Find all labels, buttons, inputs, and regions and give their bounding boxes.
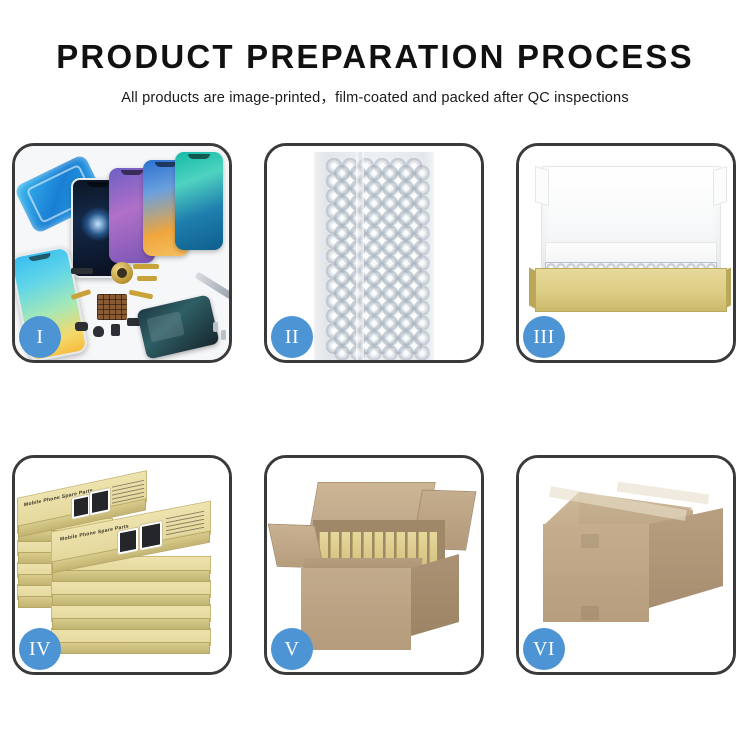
step-panel-3: III [516,143,736,363]
carton-front-face [301,568,411,650]
step-panel-6: VI [516,455,736,675]
flex-cable-icon [137,276,157,281]
connector-chip-icon [75,322,88,331]
step-panel-2: II [264,143,484,363]
carton-right-face [411,554,459,636]
box-screen-thumb [90,488,110,515]
phone-teal-icon [175,152,223,250]
step-badge-6: VI [523,628,565,670]
box-screen-thumb [118,528,138,555]
retail-box [51,580,211,598]
flex-cable-icon [129,290,154,300]
carton-right-face [649,508,723,608]
step-badge-5: V [271,628,313,670]
copper-coil-icon [111,262,133,284]
screw-grid-tray-icon [97,294,127,320]
screw-icon [213,322,218,332]
lid-tab-left [535,166,549,206]
step-panel-1: I [12,143,232,363]
retail-box [51,604,211,622]
flex-cable-icon [133,264,159,269]
page-title: PRODUCT PREPARATION PROCESS [0,38,750,76]
carton-flap-seam [581,606,599,620]
phone-back-housing-icon [136,294,219,359]
bubble-wrap-bag-icon [314,152,434,360]
connector-chip-icon [111,324,120,336]
step-panel-5: V [264,455,484,675]
lid-tab-right [713,166,727,206]
bag-seam [356,152,364,360]
carton-flap-seam [581,534,599,548]
step-badge-3: III [523,316,565,358]
screw-icon [221,330,226,340]
bubble-pattern-back [334,165,430,360]
step-panel-4: Mobile Phone Spare Parts Mobile Phone Sp… [12,455,232,675]
page-subtitle: All products are image-printed，film-coat… [0,86,750,107]
connector-chip-icon [93,326,104,337]
step-badge-1: I [19,316,61,358]
box-screen-thumb [72,494,90,519]
step-badge-4: IV [19,628,61,670]
connector-chip-icon [71,268,93,274]
step-badge-2: II [271,316,313,358]
box-screen-thumb [140,521,162,550]
kraft-tray-icon [535,268,727,312]
retail-box [51,628,211,646]
